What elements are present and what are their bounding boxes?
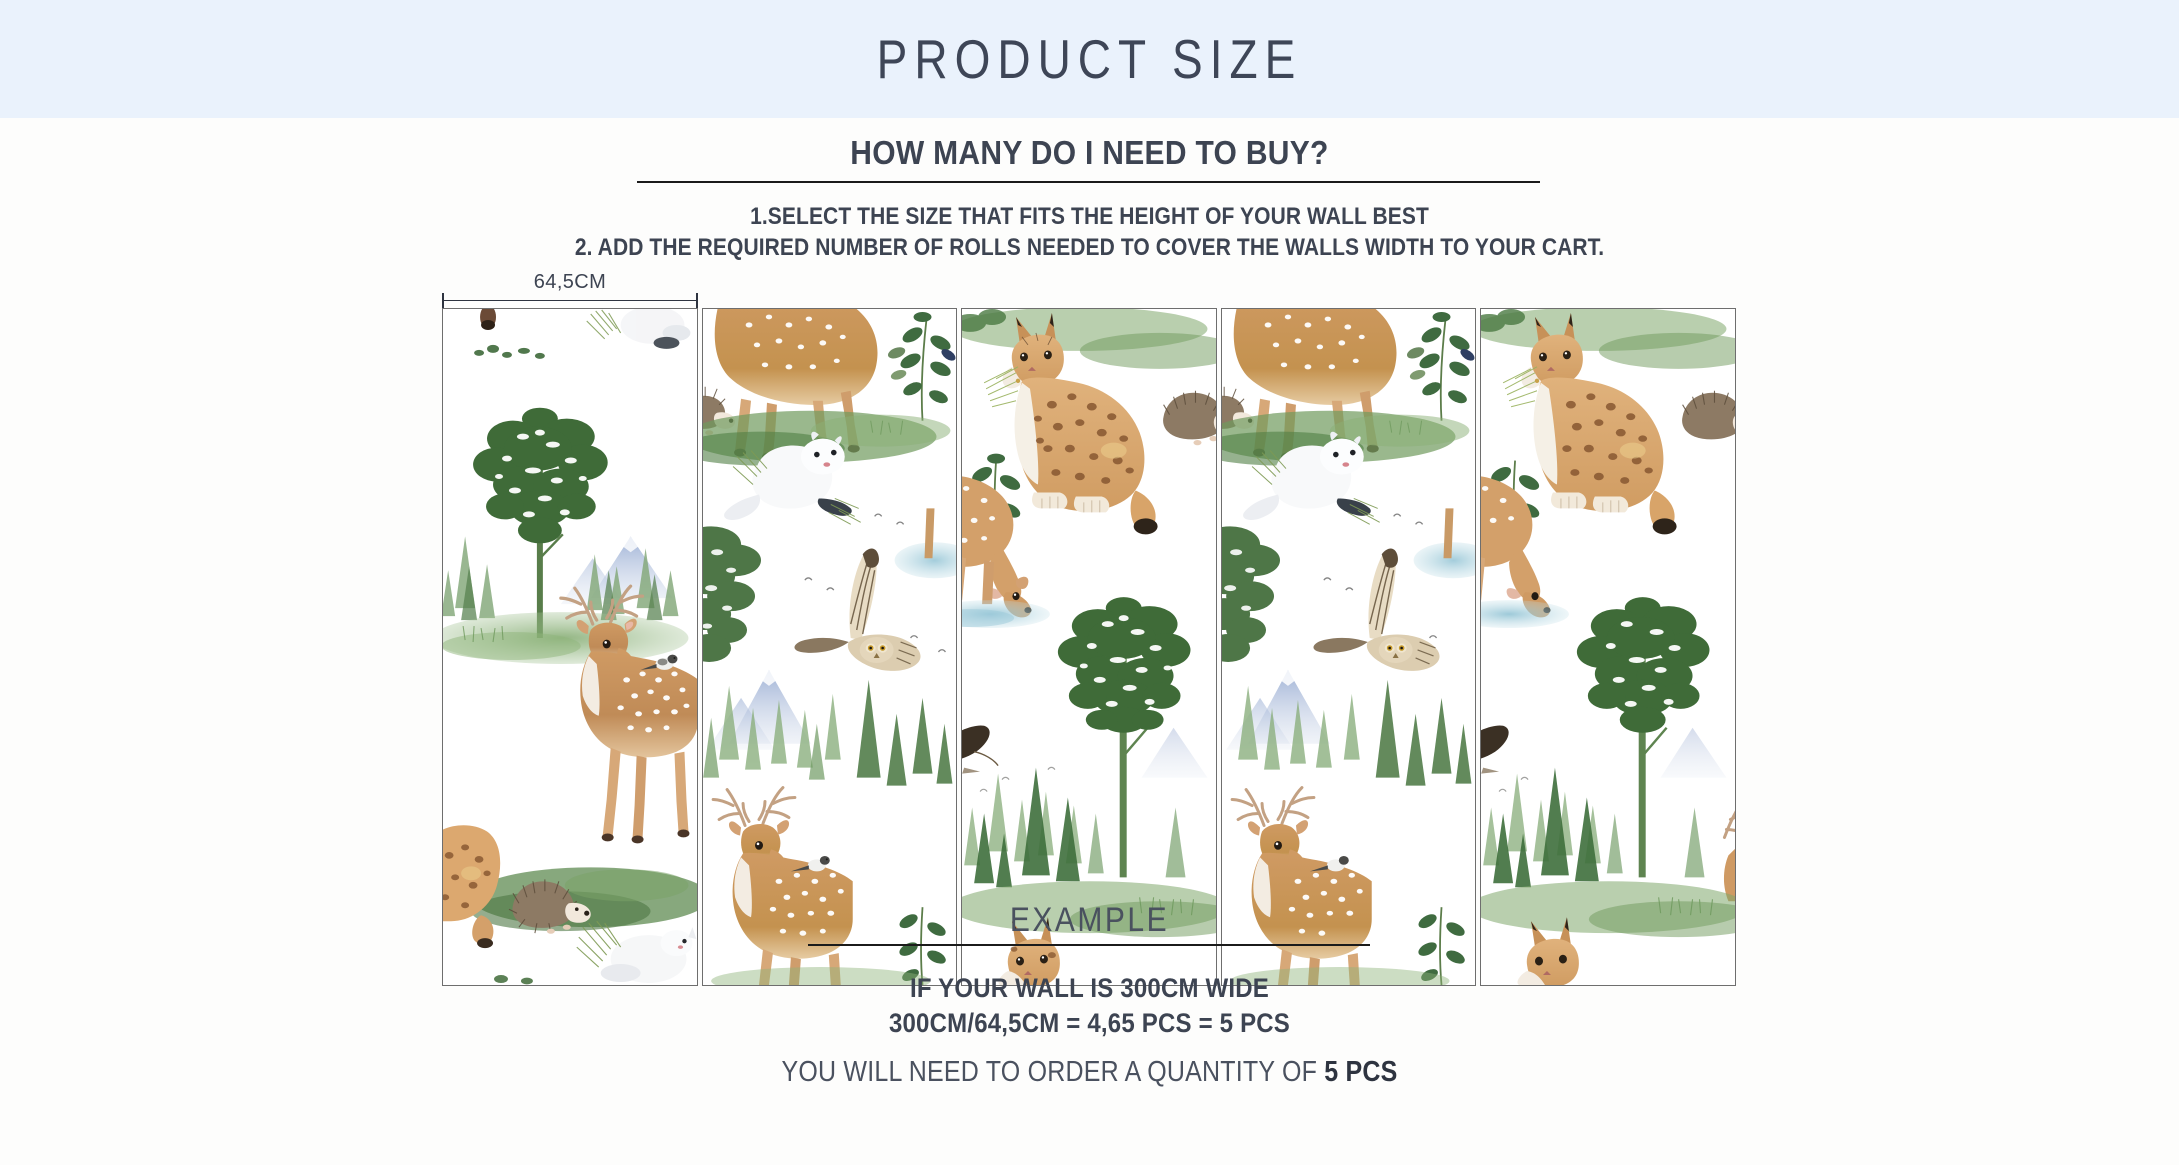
example-calculation: IF YOUR WALL IS 300CM WIDE 300CM/64,5CM …: [0, 971, 2179, 1041]
wallpaper-pattern-3: [962, 309, 1216, 985]
wallpaper-pattern-1: [443, 309, 697, 985]
example-line-2: 300CM/64,5CM = 4,65 PCS = 5 PCS: [0, 1004, 2179, 1043]
header-band: PRODUCT SIZE: [0, 0, 2179, 118]
wallpaper-pattern-2: [703, 309, 957, 985]
subtitle-divider: [637, 181, 1540, 183]
wallpaper-panel-5[interactable]: [1480, 308, 1736, 986]
wallpaper-panel-row: [442, 308, 1736, 986]
example-conclusion: YOU WILL NEED TO ORDER A QUANTITY OF 5 P…: [0, 1056, 2179, 1089]
instruction-step-2: 2. ADD THE REQUIRED NUMBER OF ROLLS NEED…: [0, 230, 2179, 266]
wallpaper-panel-4[interactable]: [1221, 308, 1477, 986]
content-area: HOW MANY DO I NEED TO BUY? 1.SELECT THE …: [0, 118, 2179, 1165]
instruction-list: 1.SELECT THE SIZE THAT FITS THE HEIGHT O…: [0, 201, 2179, 263]
wallpaper-panel-1[interactable]: [442, 308, 698, 986]
dimension-line: [442, 300, 698, 301]
example-conclusion-prefix: YOU WILL NEED TO ORDER A QUANTITY OF: [782, 1056, 1325, 1088]
example-divider: [808, 944, 1370, 946]
wallpaper-panel-3[interactable]: [961, 308, 1217, 986]
wallpaper-pattern-5: [1481, 309, 1735, 985]
dimension-label: 64,5CM: [442, 271, 698, 294]
wallpaper-panel-2[interactable]: [702, 308, 958, 986]
example-heading: EXAMPLE: [0, 901, 2179, 940]
example-quantity: 5 PCS: [1324, 1056, 1397, 1088]
example-line-1: IF YOUR WALL IS 300CM WIDE: [0, 969, 2179, 1008]
dimension-cap-right: [696, 293, 698, 308]
dimension-cap-left: [442, 293, 444, 308]
page-title: PRODUCT SIZE: [877, 27, 1303, 91]
wallpaper-pattern-4: [1222, 309, 1476, 985]
section-subtitle: HOW MANY DO I NEED TO BUY?: [0, 135, 2179, 173]
